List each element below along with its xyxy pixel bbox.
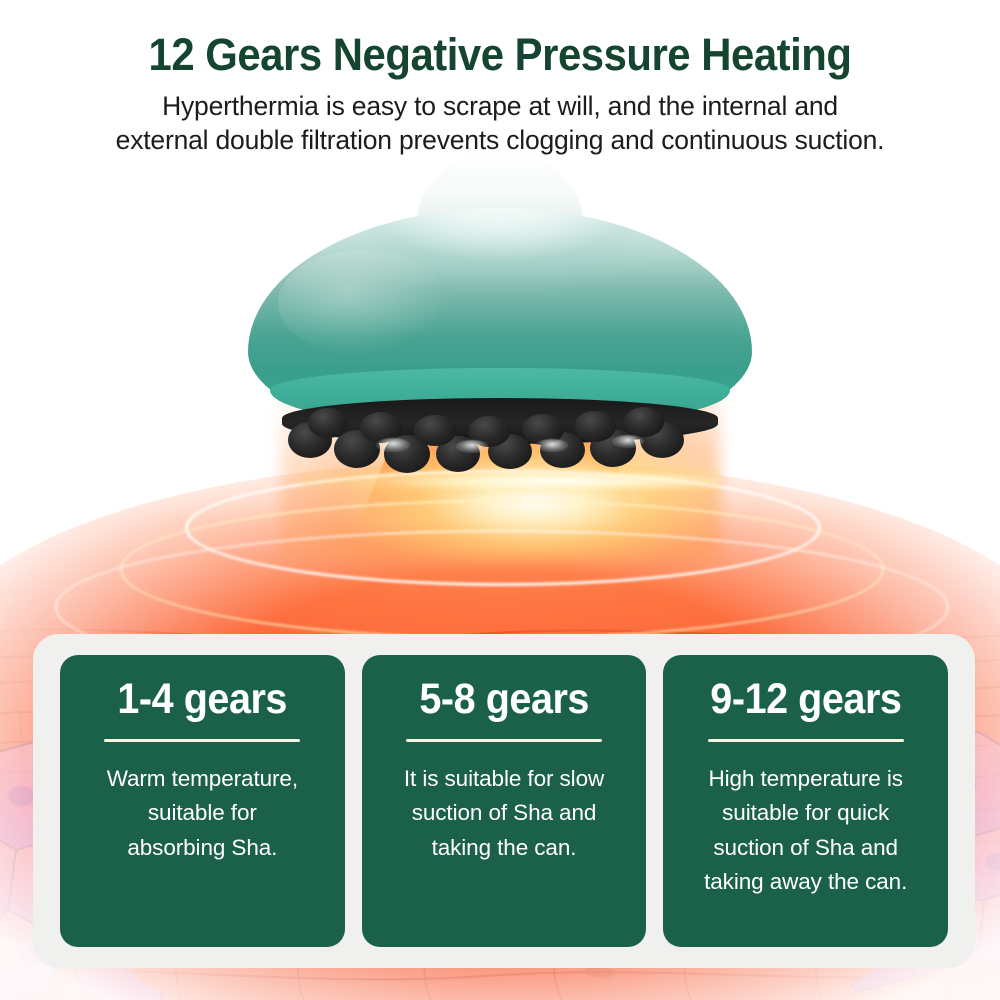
gear-card-body: Warm temperature, suitable for absorbing… xyxy=(107,762,298,865)
gear-card-divider xyxy=(406,739,602,742)
device-neck xyxy=(416,150,584,260)
header: 12 Gears Negative Pressure Heating Hyper… xyxy=(0,0,1000,158)
gear-card-title: 1-4 gears xyxy=(118,677,288,722)
gear-card-body: High temperature is suitable for quick s… xyxy=(704,762,907,899)
gear-card-title: 9-12 gears xyxy=(710,677,901,722)
gear-card-divider xyxy=(708,739,904,742)
gear-card-9-12[interactable]: 9-12 gears High temperature is suitable … xyxy=(663,655,948,947)
gear-card-body-line: suitable for quick xyxy=(704,796,907,830)
gear-card-body-line: It is suitable for slow xyxy=(404,762,604,796)
gear-card-divider xyxy=(104,739,300,742)
gear-card-body-line: taking away the can. xyxy=(704,865,907,899)
gear-card-body-line: absorbing Sha. xyxy=(107,831,298,865)
gear-card-title: 5-8 gears xyxy=(419,677,589,722)
gear-card-1-4[interactable]: 1-4 gears Warm temperature, suitable for… xyxy=(60,655,345,947)
page-title: 12 Gears Negative Pressure Heating xyxy=(35,32,965,77)
gear-card-body-line: suction of Sha and xyxy=(704,831,907,865)
gear-card-body-line: taking the can. xyxy=(404,831,604,865)
gear-card-body-line: High temperature is xyxy=(704,762,907,796)
gear-card-5-8[interactable]: 5-8 gears It is suitable for slow suctio… xyxy=(362,655,647,947)
gear-card-list: 1-4 gears Warm temperature, suitable for… xyxy=(60,655,948,947)
gear-card-body-line: Warm temperature, xyxy=(107,762,298,796)
gear-card-body-line: suction of Sha and xyxy=(404,796,604,830)
product-infographic: 12 Gears Negative Pressure Heating Hyper… xyxy=(0,0,1000,1000)
page-subtitle: Hyperthermia is easy to scrape at will, … xyxy=(20,89,980,158)
gear-card-body-line: suitable for xyxy=(107,796,298,830)
subtitle-line-2: external double filtration prevents clog… xyxy=(20,123,980,157)
gear-card-body: It is suitable for slow suction of Sha a… xyxy=(404,762,604,865)
subtitle-line-1: Hyperthermia is easy to scrape at will, … xyxy=(20,89,980,123)
